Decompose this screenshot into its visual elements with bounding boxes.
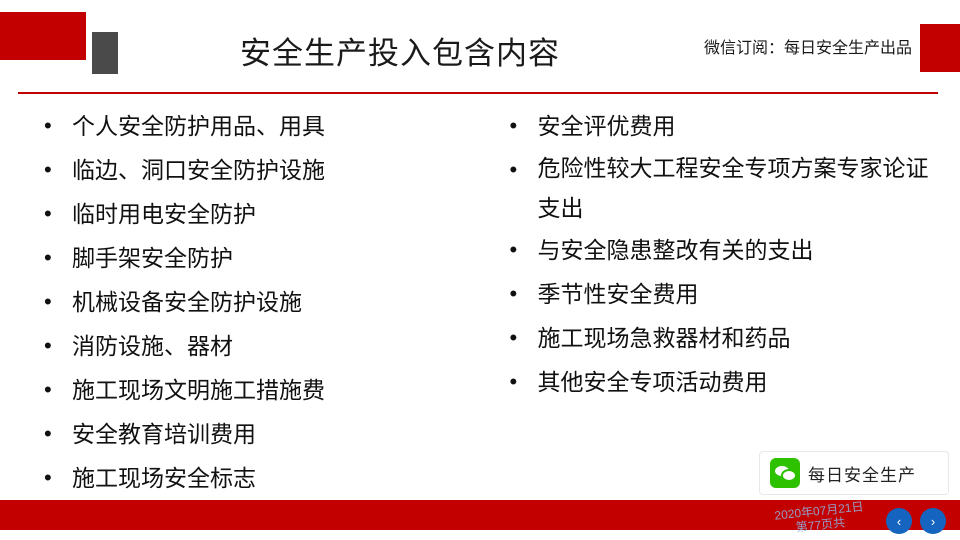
bullet-dot-icon: • xyxy=(44,148,52,192)
bullet-dot-icon: • xyxy=(510,316,518,360)
list-item-label: 安全评优费用 xyxy=(538,113,676,139)
top-left-red-block xyxy=(0,12,86,60)
list-item-label: 与安全隐患整改有关的支出 xyxy=(538,237,814,263)
wechat-icon xyxy=(770,458,800,488)
bullet-dot-icon: • xyxy=(510,104,518,148)
top-left-dark-block xyxy=(92,32,118,74)
bullet-dot-icon: • xyxy=(44,236,52,280)
list-item-label: 危险性较大工程安全专项方案专家论证支出 xyxy=(538,155,929,221)
list-item-label: 机械设备安全防护设施 xyxy=(72,289,302,315)
list-item: •其他安全专项活动费用 xyxy=(500,360,935,404)
subscribe-note: 微信订阅：每日安全生产出品 xyxy=(704,34,912,58)
list-item: •临时用电安全防护 xyxy=(34,192,480,236)
left-column: •个人安全防护用品、用具 •临边、洞口安全防护设施 •临时用电安全防护 •脚手架… xyxy=(30,104,480,500)
bottom-white-strip xyxy=(0,530,960,540)
page-title: 安全生产投入包含内容 xyxy=(180,28,620,73)
list-item-label: 季节性安全费用 xyxy=(538,281,699,307)
list-item: •临边、洞口安全防护设施 xyxy=(34,148,480,192)
bullet-dot-icon: • xyxy=(44,368,52,412)
slide: 安全生产投入包含内容 微信订阅：每日安全生产出品 •个人安全防护用品、用具 •临… xyxy=(0,0,960,540)
list-item: •施工现场安全标志 xyxy=(34,456,480,500)
wechat-account-badge: 每日安全生产 xyxy=(760,452,948,494)
list-item-label: 个人安全防护用品、用具 xyxy=(72,113,325,139)
list-item-label: 施工现场急救器材和药品 xyxy=(538,325,791,351)
bullet-dot-icon: • xyxy=(510,228,518,272)
title-divider xyxy=(18,92,938,94)
bullet-dot-icon: • xyxy=(510,272,518,316)
prev-slide-button[interactable]: ‹ xyxy=(886,508,912,534)
list-item-label: 施工现场文明施工措施费 xyxy=(72,377,325,403)
list-item-label: 消防设施、器材 xyxy=(72,333,233,359)
right-column: •安全评优费用 •危险性较大工程安全专项方案专家论证支出 •与安全隐患整改有关的… xyxy=(480,104,935,500)
top-right-red-block xyxy=(920,24,960,72)
list-item: •机械设备安全防护设施 xyxy=(34,280,480,324)
list-item: •消防设施、器材 xyxy=(34,324,480,368)
bullet-dot-icon: • xyxy=(44,192,52,236)
list-item-label: 脚手架安全防护 xyxy=(72,245,233,271)
bullet-dot-icon: • xyxy=(44,104,52,148)
bullet-dot-icon: • xyxy=(44,324,52,368)
list-item-label: 安全教育培训费用 xyxy=(72,421,256,447)
bullet-dot-icon: • xyxy=(510,360,518,404)
list-item-label: 临边、洞口安全防护设施 xyxy=(72,157,325,183)
bullet-dot-icon: • xyxy=(44,456,52,500)
list-item: •个人安全防护用品、用具 xyxy=(34,104,480,148)
list-item: •安全教育培训费用 xyxy=(34,412,480,456)
left-bullet-list: •个人安全防护用品、用具 •临边、洞口安全防护设施 •临时用电安全防护 •脚手架… xyxy=(34,104,480,500)
bullet-dot-icon: • xyxy=(510,148,518,192)
list-item: •施工现场急救器材和药品 xyxy=(500,316,935,360)
wechat-account-name: 每日安全生产 xyxy=(808,461,916,486)
list-item-label: 其他安全专项活动费用 xyxy=(538,369,768,395)
slide-navigation[interactable]: ‹ › xyxy=(886,508,946,534)
right-bullet-list: •安全评优费用 •危险性较大工程安全专项方案专家论证支出 •与安全隐患整改有关的… xyxy=(500,104,935,404)
list-item: •与安全隐患整改有关的支出 xyxy=(500,228,935,272)
list-item-label: 施工现场安全标志 xyxy=(72,465,256,491)
list-item-label: 临时用电安全防护 xyxy=(72,201,256,227)
content-columns: •个人安全防护用品、用具 •临边、洞口安全防护设施 •临时用电安全防护 •脚手架… xyxy=(0,104,960,500)
list-item: •季节性安全费用 xyxy=(500,272,935,316)
list-item: •施工现场文明施工措施费 xyxy=(34,368,480,412)
bullet-dot-icon: • xyxy=(44,412,52,456)
bullet-dot-icon: • xyxy=(44,280,52,324)
next-slide-button[interactable]: › xyxy=(920,508,946,534)
list-item: •脚手架安全防护 xyxy=(34,236,480,280)
list-item: •安全评优费用 xyxy=(500,104,935,148)
list-item: •危险性较大工程安全专项方案专家论证支出 xyxy=(500,148,935,228)
